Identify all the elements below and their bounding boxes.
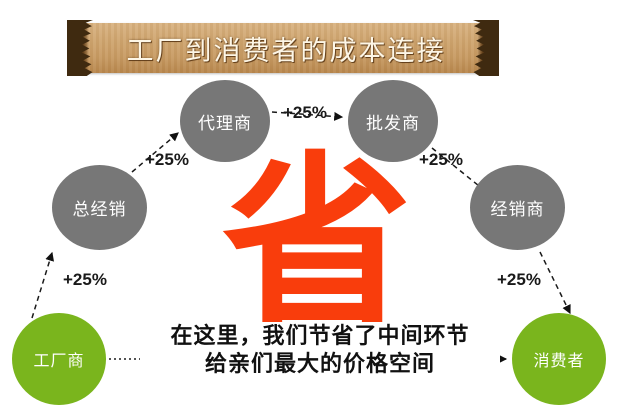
markup-label-factory-to-master: +25% — [63, 270, 107, 290]
node-factory: 工厂商 — [12, 313, 106, 405]
node-dealer: 经销商 — [470, 165, 565, 250]
node-general-distributor: 总经销 — [52, 165, 147, 250]
markup-label-agent-to-wholesaler: +25% — [283, 103, 327, 123]
markup-label-dealer-to-consumer: +25% — [497, 270, 541, 290]
node-factory-label: 工厂商 — [33, 347, 84, 371]
node-wholesaler-label: 批发商 — [366, 109, 420, 134]
slogan-line-2: 给亲们最大的价格空间 — [140, 350, 500, 378]
node-agent-label: 代理商 — [198, 109, 252, 134]
title-banner: 工厂到消费者的成本连接 — [78, 23, 488, 73]
node-general-distributor-label: 总经销 — [73, 195, 127, 220]
node-consumer-label: 消费者 — [533, 347, 584, 371]
slogan: 在这里，我们节省了中间环节 给亲们最大的价格空间 — [140, 322, 500, 377]
edge-dealer-to-consumer — [540, 252, 570, 313]
slogan-line-1: 在这里，我们节省了中间环节 — [140, 322, 500, 350]
node-dealer-label: 经销商 — [491, 195, 545, 220]
page-title: 工厂到消费者的成本连接 — [78, 23, 488, 73]
markup-label-master-to-agent: +25% — [145, 150, 189, 170]
markup-label-wholesaler-to-dealer: +25% — [419, 150, 463, 170]
infographic-canvas: 工厂到消费者的成本连接 代理商 批发商 总经销 经销商 工厂商 消费者 +25%… — [0, 0, 634, 413]
node-consumer: 消费者 — [512, 313, 606, 405]
savings-character: 省 — [222, 168, 412, 323]
edge-factory-to-master — [32, 253, 52, 318]
